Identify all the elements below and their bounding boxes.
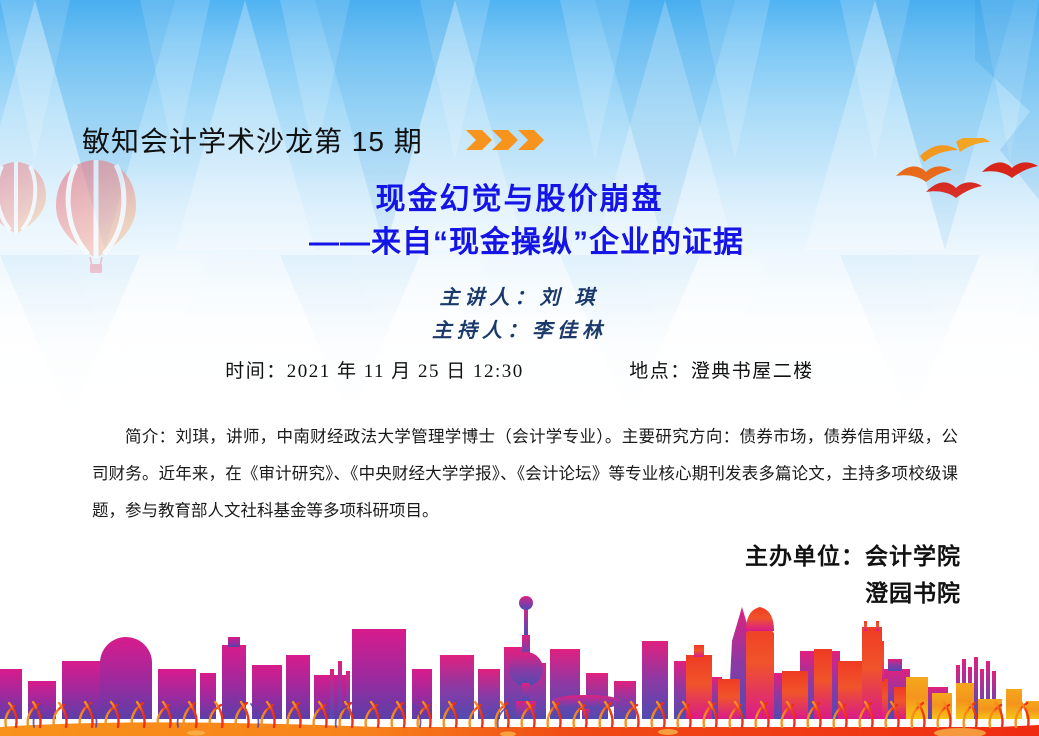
event-time: 时间：2021 年 11 月 25 日 12:30 [225, 361, 524, 382]
poster-canvas: 敏知会计学术沙龙第 15 期 现金幻觉与股价崩盘 ——来自“现金操纵”企业的证据… [0, 0, 1039, 736]
talk-title-main: 现金幻觉与股价崩盘 [0, 180, 1039, 220]
event-location: 地点：澄典书屋二楼 [629, 361, 814, 382]
chevron-right-icon [466, 128, 544, 152]
speaker-line: 主讲人：刘 琪 [0, 282, 1039, 315]
talk-title-subtitle: ——来自“现金操纵”企业的证据 [0, 220, 1039, 266]
series-kicker: 敏知会计学术沙龙第 15 期 [82, 120, 423, 160]
organizer-secondary: 澄园书院 [745, 575, 961, 612]
poster-content: 敏知会计学术沙龙第 15 期 现金幻觉与股价崩盘 ——来自“现金操纵”企业的证据… [0, 0, 1039, 736]
host-line: 主持人：李佳林 [0, 315, 1039, 348]
organizer-primary: 主办单位：会计学院 [745, 538, 961, 575]
organizer-block: 主办单位：会计学院 澄园书院 [745, 538, 961, 612]
event-meta: 时间：2021 年 11 月 25 日 12:30 地点：澄典书屋二楼 [0, 356, 1039, 383]
talk-title: 现金幻觉与股价崩盘 ——来自“现金操纵”企业的证据 [0, 180, 1039, 266]
speaker-bio: 简介：刘琪，讲师，中南财经政法大学管理学博士（会计学专业）。主要研究方向：债券市… [92, 418, 958, 529]
people-block: 主讲人：刘 琪 主持人：李佳林 [0, 282, 1039, 348]
